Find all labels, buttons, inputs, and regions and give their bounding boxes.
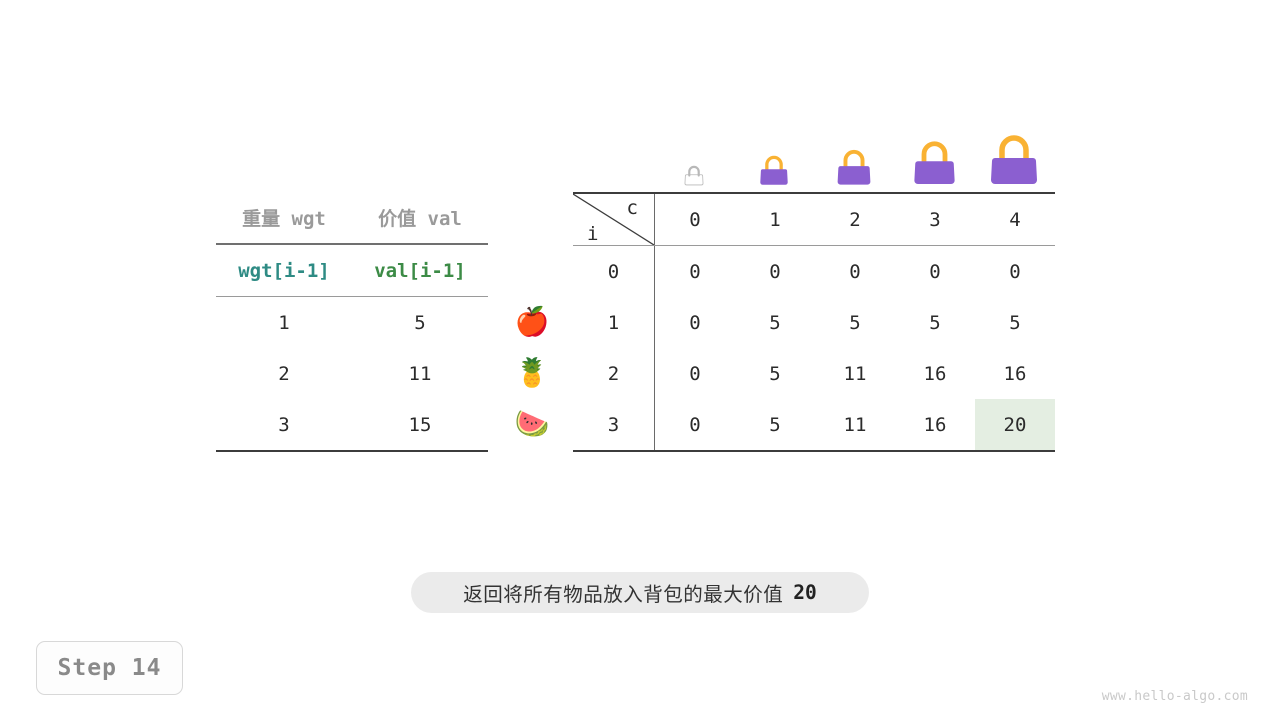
- dp-row-header-2: 2: [573, 348, 655, 399]
- dp-cell-1-0: 0: [655, 297, 736, 348]
- bag-icon-empty: [654, 165, 734, 186]
- watermark: www.hello-algo.com: [1102, 689, 1248, 704]
- dp-cell-1-4: 5: [975, 297, 1055, 348]
- item-value-2: 11: [352, 348, 488, 399]
- dp-cell-0-4: 0: [975, 246, 1055, 298]
- result-caption-value: 20: [793, 581, 816, 604]
- dp-header-row: c i 0 1 2 3 4: [573, 193, 1055, 246]
- dp-cell-3-3: 16: [895, 399, 975, 451]
- dp-cell-2-0: 0: [655, 348, 736, 399]
- item-row-2: 2 11: [216, 348, 488, 399]
- pineapple-icon: 🍍: [508, 347, 556, 398]
- dp-cell-0-0: 0: [655, 246, 736, 298]
- result-caption-text: 返回将所有物品放入背包的最大价值: [463, 578, 783, 607]
- diagonal-divider-icon: [573, 194, 654, 245]
- dp-cell-3-0: 0: [655, 399, 736, 451]
- dp-table-grid: c i 0 1 2 3 4 0 0 0 0 0 0 1 0 5 5 5 5: [573, 192, 1055, 452]
- dp-table: c i 0 1 2 3 4 0 0 0 0 0 0 1 0 5 5 5 5: [573, 192, 1054, 452]
- items-table: 重量 wgt 价值 val wgt[i-1] val[i-1] 1 5 2 11…: [216, 192, 488, 452]
- dp-cell-2-1: 5: [735, 348, 815, 399]
- item-value-3: 15: [352, 399, 488, 451]
- dp-col-header-4: 4: [975, 193, 1055, 246]
- items-subheader-val-key: val[i-1]: [352, 244, 488, 297]
- apple-icon: 🍎: [508, 296, 556, 347]
- step-badge: Step 14: [36, 641, 183, 695]
- bag-icon-empty-glyph: [683, 165, 705, 186]
- watermelon-icon: 🍉: [508, 398, 556, 449]
- dp-cell-0-1: 0: [735, 246, 815, 298]
- dp-row-header-1: 1: [573, 297, 655, 348]
- dp-col-header-2: 2: [815, 193, 895, 246]
- items-table-subheader-row: wgt[i-1] val[i-1]: [216, 244, 488, 297]
- bag-icon-size-1-glyph: [757, 155, 791, 186]
- dp-cell-0-2: 0: [815, 246, 895, 298]
- bag-icon-size-2-glyph: [834, 149, 874, 186]
- bag-icon-size-4: [974, 134, 1054, 186]
- item-row-1: 1 5: [216, 297, 488, 349]
- bag-icon-size-3: [894, 140, 974, 186]
- dp-row-2: 2 0 5 11 16 16: [573, 348, 1055, 399]
- dp-cell-1-1: 5: [735, 297, 815, 348]
- dp-cell-2-2: 11: [815, 348, 895, 399]
- items-table-header-row: 重量 wgt 价值 val: [216, 192, 488, 244]
- item-weight-2: 2: [216, 348, 352, 399]
- dp-corner-row-label: i: [587, 223, 598, 245]
- dp-cell-3-4-highlighted: 20: [975, 399, 1055, 451]
- item-fruit-column: 🍎 🍍 🍉: [508, 296, 556, 449]
- dp-cell-2-4: 16: [975, 348, 1055, 399]
- item-weight-1: 1: [216, 297, 352, 349]
- step-badge-label: Step 14: [58, 655, 162, 681]
- bag-capacity-icon-row: [654, 126, 1054, 186]
- item-row-3: 3 15: [216, 399, 488, 451]
- bag-icon-size-4-glyph: [986, 134, 1042, 186]
- bag-icon-size-2: [814, 149, 894, 186]
- dp-col-header-3: 3: [895, 193, 975, 246]
- dp-col-header-0: 0: [655, 193, 736, 246]
- item-value-1: 5: [352, 297, 488, 349]
- dp-corner-cell: c i: [573, 193, 655, 246]
- dp-row-header-3: 3: [573, 399, 655, 451]
- dp-corner-axes: c i: [573, 194, 654, 245]
- items-subheader-wgt-key: wgt[i-1]: [216, 244, 352, 297]
- dp-row-3: 3 0 5 11 16 20: [573, 399, 1055, 451]
- dp-cell-3-1: 5: [735, 399, 815, 451]
- dp-corner-col-label: c: [627, 197, 638, 219]
- dp-col-header-1: 1: [735, 193, 815, 246]
- dp-cell-1-3: 5: [895, 297, 975, 348]
- dp-row-0: 0 0 0 0 0 0: [573, 246, 1055, 298]
- dp-cell-3-2: 11: [815, 399, 895, 451]
- dp-row-header-0: 0: [573, 246, 655, 298]
- item-weight-3: 3: [216, 399, 352, 451]
- bag-icon-size-1: [734, 155, 814, 186]
- items-table-grid: 重量 wgt 价值 val wgt[i-1] val[i-1] 1 5 2 11…: [216, 192, 488, 452]
- dp-cell-2-3: 16: [895, 348, 975, 399]
- dp-row-1: 1 0 5 5 5 5: [573, 297, 1055, 348]
- items-header-value: 价值 val: [352, 192, 488, 244]
- dp-cell-0-3: 0: [895, 246, 975, 298]
- dp-cell-1-2: 5: [815, 297, 895, 348]
- result-caption: 返回将所有物品放入背包的最大价值 20: [411, 572, 869, 613]
- items-header-weight: 重量 wgt: [216, 192, 352, 244]
- bag-icon-size-3-glyph: [910, 140, 959, 186]
